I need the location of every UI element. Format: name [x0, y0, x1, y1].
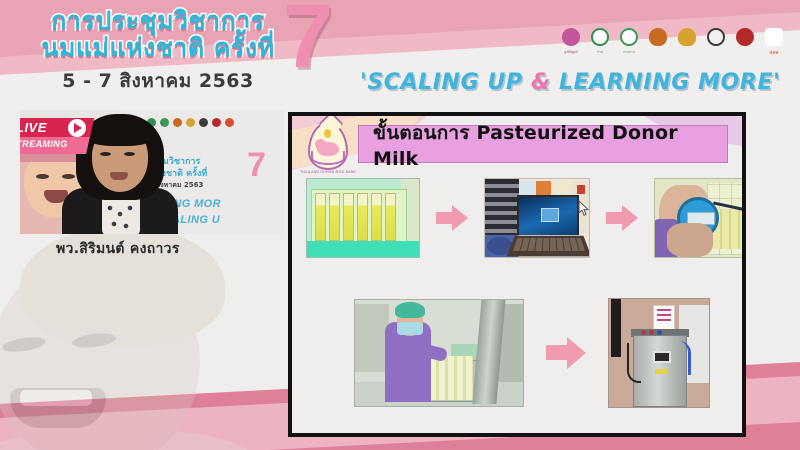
royal-emblem-logo: [647, 26, 669, 56]
play-icon: [68, 119, 86, 137]
process-arrow-2: [606, 205, 638, 231]
process-row-bottom: [354, 298, 710, 408]
photo-milk-bottles-rack: [306, 178, 420, 258]
department-of-health-logo: กระทรวงสาธารณสุข: [618, 26, 640, 56]
process-arrow-3: [546, 337, 586, 369]
conference-header-banner: การประชุมวิชาการ นมแม่แห่งชาติ ครั้งที่ …: [0, 0, 800, 105]
sponsor-logo-row: มูลนิธิศูนย์นมแม่ กรมอนามัย กระทรวงสาธาร…: [560, 26, 785, 56]
royal-thai-government-logo: [676, 26, 698, 56]
presentation-screen: การประชุมวิชาการ นมแม่แห่งชาติ ครั้งที่ …: [0, 0, 800, 450]
poster-edition-number: 7: [247, 148, 266, 182]
live-badge-label: LIVE: [20, 120, 47, 135]
conference-title-line2: นมแม่แห่งชาติ ครั้งที่: [18, 35, 298, 61]
conference-title-line1: การประชุมวิชาการ: [18, 8, 298, 34]
process-row-top: [306, 178, 746, 258]
conference-title-block: การประชุมวิชาการ นมแม่แห่งชาติ ครั้งที่ …: [18, 2, 298, 96]
photo-hand-thermometer: [654, 178, 746, 258]
thaihealth-sss-logo: สสส: [763, 26, 785, 56]
tagline-suffix: LEARNING MORE': [551, 70, 781, 95]
milk-bank-logo-caption: THAILAND HUMAN MILK BANK: [300, 170, 356, 174]
conference-tagline: 'SCALING UP & LEARNING MORE': [360, 70, 780, 95]
edition-number: 7: [283, 0, 333, 82]
mouse-cursor-icon: [578, 200, 590, 217]
tagline-prefix: 'SCALING UP: [360, 70, 531, 95]
university-seal-logo: [705, 26, 727, 56]
speaker-video-tile[interactable]: การประชุมวิชาการ นมแม่แห่งชาติ ครั้งที่ …: [20, 110, 284, 234]
conference-date: 5 - 7 สิงหาคม 2563: [18, 66, 298, 96]
photo-stainless-freezer-unit: [608, 298, 710, 408]
photo-laptop-data-entry: [484, 178, 590, 258]
slide-title-banner: ขั้นตอนการ Pasteurized Donor Milk: [358, 125, 728, 163]
live-streaming-badge: LIVE STREAMING: [20, 118, 92, 156]
human-milk-bank-droplet-logo: THAILAND HUMAN MILK BANK: [300, 120, 356, 182]
slide-panel: THAILAND HUMAN MILK BANK ขั้นตอนการ Past…: [288, 112, 746, 437]
child-photo-watermark: [0, 230, 310, 450]
speaker-name-label: พว.สิริมนต์ คงถาวร: [56, 238, 286, 260]
ministry-of-public-health-logo: กรมอนามัย: [589, 26, 611, 56]
streaming-badge-label: STREAMING: [20, 139, 68, 149]
red-institute-logo: [734, 26, 756, 56]
photo-nurse-loading-pasteurizer: [354, 299, 524, 407]
tagline-ampersand: &: [531, 70, 551, 95]
thai-breastfeeding-foundation-logo: มูลนิธิศูนย์นมแม่: [560, 26, 582, 56]
process-arrow-1: [436, 205, 468, 231]
slide-title-text: ขั้นตอนการ Pasteurized Donor Milk: [373, 118, 727, 170]
